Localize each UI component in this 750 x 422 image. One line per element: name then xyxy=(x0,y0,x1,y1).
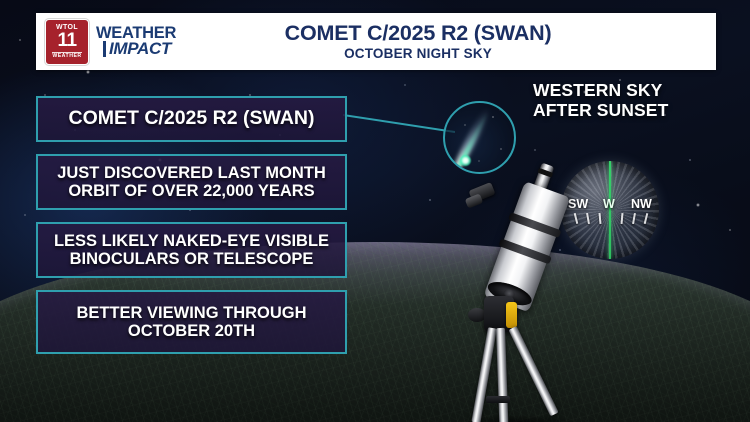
header-bar: WTOL 11 WEATHER WEATHER IMPACT COMET C/2… xyxy=(36,13,716,70)
tripod-leg xyxy=(496,328,508,422)
logo-channel: 11 xyxy=(57,31,76,50)
compass-label-nw: NW xyxy=(631,197,652,211)
tripod-leg xyxy=(471,327,497,422)
info-box-line: BETTER VIEWING THROUGH xyxy=(76,304,306,322)
tripod-leg xyxy=(508,326,558,416)
header-titles: COMET C/2025 R2 (SWAN) OCTOBER NIGHT SKY xyxy=(176,22,716,61)
info-box-line: COMET C/2025 R2 (SWAN) xyxy=(69,108,315,130)
info-box-line: LESS LIKELY NAKED-EYE VISIBLE xyxy=(54,232,329,250)
info-box-line: ORBIT OF OVER 22,000 YEARS xyxy=(68,182,314,200)
info-box-viewing-window: BETTER VIEWING THROUGH OCTOBER 20TH xyxy=(36,290,347,354)
tripod-brace xyxy=(486,396,510,403)
page-subtitle: OCTOBER NIGHT SKY xyxy=(176,46,660,61)
tube-band xyxy=(498,238,551,264)
info-box-comet-name: COMET C/2025 R2 (SWAN) xyxy=(36,96,347,142)
info-box-line: OCTOBER 20TH xyxy=(128,322,255,340)
brand-line-2: IMPACT xyxy=(103,41,176,57)
wtol-11-logo-icon: WTOL 11 WEATHER xyxy=(45,19,89,65)
info-box-visibility: LESS LIKELY NAKED-EYE VISIBLE BINOCULARS… xyxy=(36,222,347,278)
telescope-tube xyxy=(483,181,570,312)
finder-band xyxy=(537,168,553,178)
info-box-line: BINOCULARS OR TELESCOPE xyxy=(70,250,314,268)
western-sky-label: WESTERN SKY AFTER SUNSET xyxy=(533,80,713,121)
tube-band xyxy=(508,212,561,238)
callout-connector-line xyxy=(343,113,455,135)
western-sky-line-1: WESTERN SKY xyxy=(533,80,713,100)
weather-impact-brand: WEATHER IMPACT xyxy=(96,26,176,57)
logo-sub: WEATHER xyxy=(52,52,82,60)
weather-graphic-stage: WTOL 11 WEATHER WEATHER IMPACT COMET C/2… xyxy=(0,0,750,422)
telescope-focus-knob xyxy=(506,302,517,328)
page-title: COMET C/2025 R2 (SWAN) xyxy=(176,22,660,45)
info-box-line: JUST DISCOVERED LAST MONTH xyxy=(57,164,326,182)
compass-label-w: W xyxy=(603,197,615,211)
info-box-discovery: JUST DISCOVERED LAST MONTH ORBIT OF OVER… xyxy=(36,154,347,210)
telescope-eyepiece-secondary xyxy=(465,193,484,208)
station-logo: WTOL 11 WEATHER WEATHER IMPACT xyxy=(36,19,176,65)
western-sky-line-2: AFTER SUNSET xyxy=(533,100,713,120)
telescope-illustration xyxy=(430,160,590,422)
